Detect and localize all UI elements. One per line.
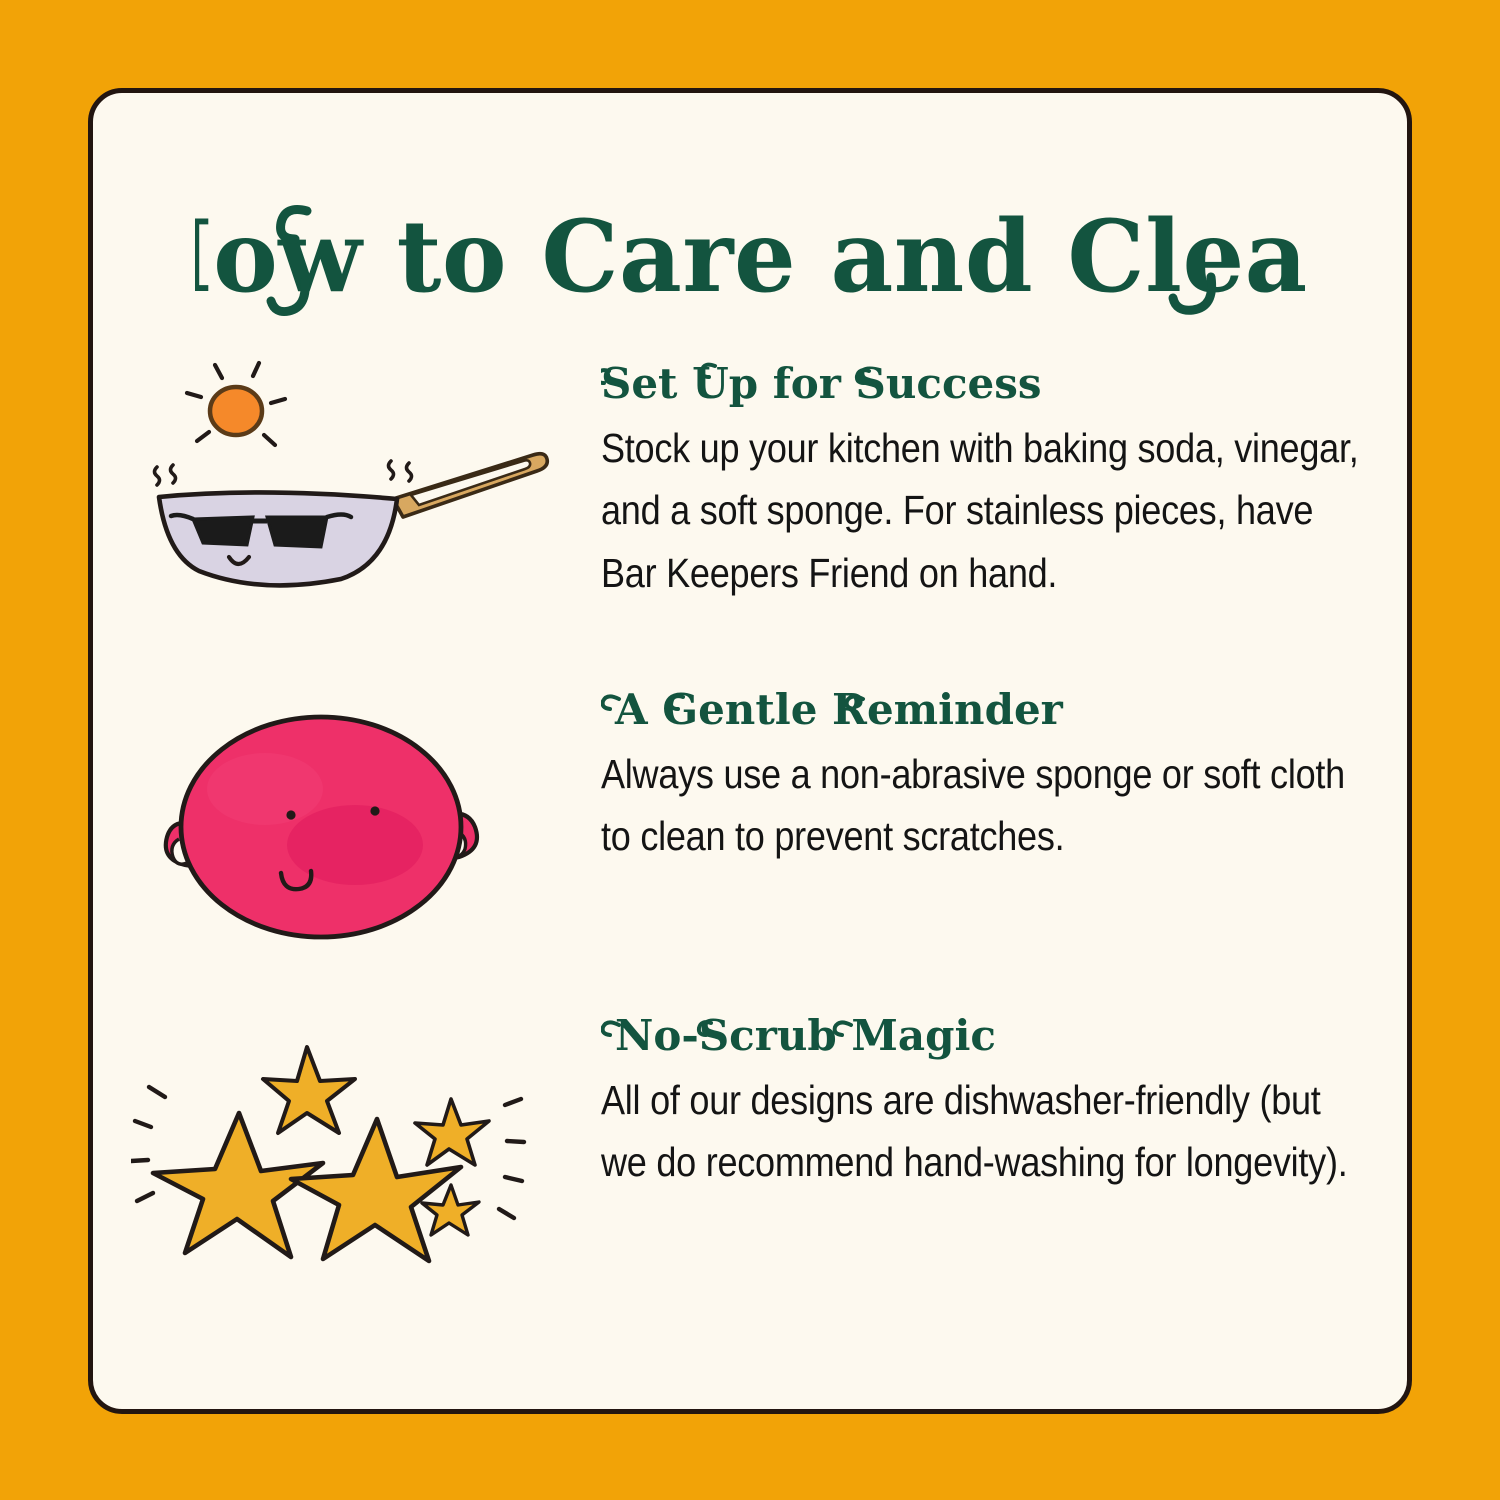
page-title: How to Care and Clean [93, 185, 1407, 325]
page-title-text: How to Care and Clean [195, 199, 1305, 315]
pink-sponge-face-icon [145, 697, 545, 957]
section-body: Stock up your kitchen with baking soda, … [601, 417, 1363, 604]
star-icon [415, 1099, 489, 1165]
pan-handle-icon [393, 454, 547, 517]
section-illustration [93, 683, 601, 1009]
sections-list: Set Up for Success Stock up your kitchen… [93, 357, 1407, 1335]
section-heading: A Gentle Reminder [601, 683, 1367, 737]
frying-pan-with-sunglasses-and-sun-icon [141, 349, 561, 609]
sponge-right-eye-icon [370, 806, 379, 815]
section-text: Set Up for Success Stock up your kitchen… [601, 357, 1407, 604]
sun-icon [210, 387, 262, 435]
sponge-left-eye-icon [286, 810, 295, 819]
section-row: No-Scrub Magic All of our designs are di… [93, 1009, 1407, 1335]
section-heading-text: A Gentle Reminder [614, 685, 1064, 734]
section-body: All of our designs are dishwasher-friend… [601, 1069, 1363, 1194]
section-text: No-Scrub Magic All of our designs are di… [601, 1009, 1407, 1194]
sparkling-stars-icon [131, 1035, 551, 1275]
section-row: Set Up for Success Stock up your kitchen… [93, 357, 1407, 683]
section-heading-text: Set Up for Success [601, 359, 1042, 408]
section-illustration [93, 1009, 601, 1335]
section-heading-text: No-Scrub Magic [615, 1011, 996, 1060]
section-row: A Gentle Reminder Always use a non-abras… [93, 683, 1407, 1009]
section-text: A Gentle Reminder Always use a non-abras… [601, 683, 1407, 868]
star-icon [263, 1047, 355, 1133]
section-illustration [93, 357, 601, 683]
poster: How to Care and Clean [0, 0, 1500, 1500]
care-instructions-card: How to Care and Clean [88, 88, 1412, 1414]
section-heading: No-Scrub Magic [601, 1009, 1367, 1063]
section-heading: Set Up for Success [601, 357, 1367, 411]
section-body: Always use a non-abrasive sponge or soft… [601, 743, 1363, 868]
